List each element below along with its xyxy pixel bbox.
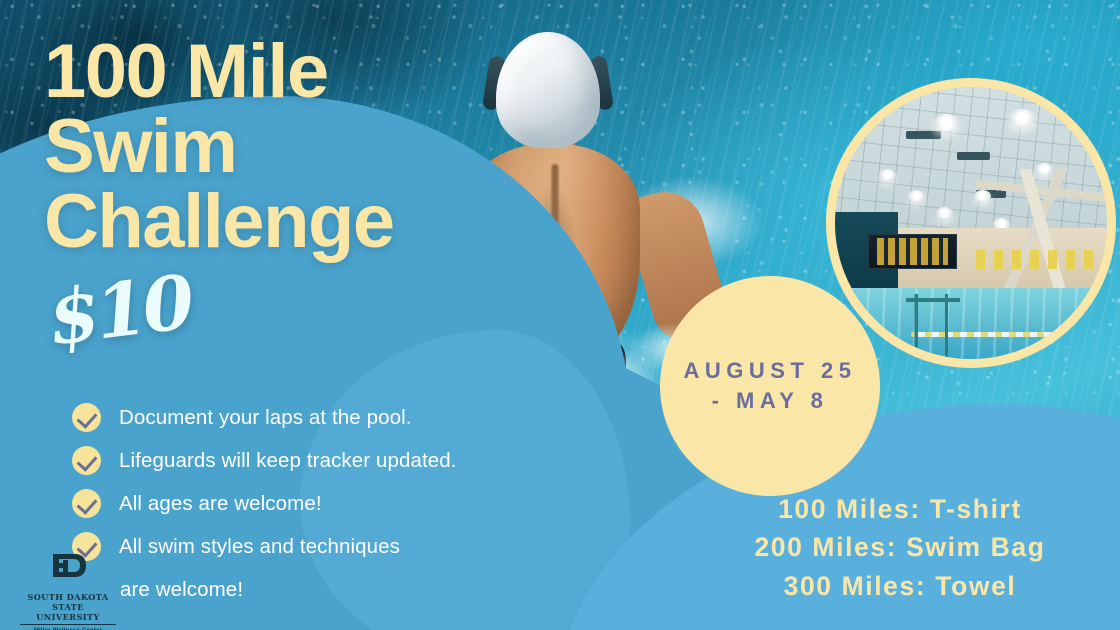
logo-line-1: SOUTH DAKOTA [20, 592, 116, 602]
title-line-3: Challenge [44, 184, 564, 259]
list-item: All ages are welcome! [72, 482, 542, 525]
list-item-label: Lifeguards will keep tracker updated. [119, 449, 457, 473]
prize-line: 100 Miles: T-shirt [700, 490, 1100, 528]
list-item-label: Document your laps at the pool. [119, 406, 412, 430]
price-label: $10 [43, 260, 195, 363]
list-item: All swim styles and techniques [72, 525, 542, 568]
prize-line: 300 Miles: Towel [700, 567, 1100, 605]
pool-scoreboard [868, 234, 958, 269]
logo-line-2: STATE UNIVERSITY [20, 602, 116, 625]
date-badge: AUGUST 25 - MAY 8 [660, 276, 880, 496]
list-item: Document your laps at the pool. [72, 396, 542, 439]
sdsu-logo: SOUTH DAKOTA STATE UNIVERSITY Miller Wel… [20, 548, 116, 630]
indoor-pool-photo [835, 87, 1107, 359]
prize-list: 100 Miles: T-shirt 200 Miles: Swim Bag 3… [700, 490, 1100, 605]
ceiling-vent [906, 131, 941, 140]
ceiling-light-icon [933, 114, 960, 132]
title-line-1: 100 Mile [44, 34, 564, 109]
prize-line: 200 Miles: Swim Bag [700, 528, 1100, 566]
ceiling-light-icon [879, 169, 896, 181]
check-circle-icon [72, 489, 101, 518]
ceiling-light-icon [936, 207, 953, 219]
backstroke-flags [976, 250, 1096, 269]
checklist: Document your laps at the pool. Lifeguar… [72, 396, 542, 611]
poster-canvas: 100 Mile Swim Challenge $10 Document you… [0, 0, 1120, 630]
check-circle-icon [72, 403, 101, 432]
sdsu-interlocking-sd-icon [45, 548, 91, 588]
pool-ladder [906, 294, 960, 359]
list-item-continuation: are welcome! [72, 568, 542, 611]
page-title: 100 Mile Swim Challenge [44, 34, 564, 260]
title-line-2: Swim [44, 109, 564, 184]
ceiling-light-icon [1009, 109, 1036, 127]
list-item: Lifeguards will keep tracker updated. [72, 439, 542, 482]
list-item-label: All ages are welcome! [119, 492, 322, 516]
list-item-label: All swim styles and techniques [119, 535, 400, 559]
ceiling-vent [957, 152, 990, 160]
pool-water [835, 288, 1107, 359]
diving-board-tower [976, 169, 1107, 294]
date-line-2: - MAY 8 [712, 388, 829, 414]
check-circle-icon [72, 446, 101, 475]
list-item-label: are welcome! [120, 578, 243, 602]
pool-photo-circle [826, 78, 1116, 368]
date-line-1: AUGUST 25 [684, 358, 857, 384]
